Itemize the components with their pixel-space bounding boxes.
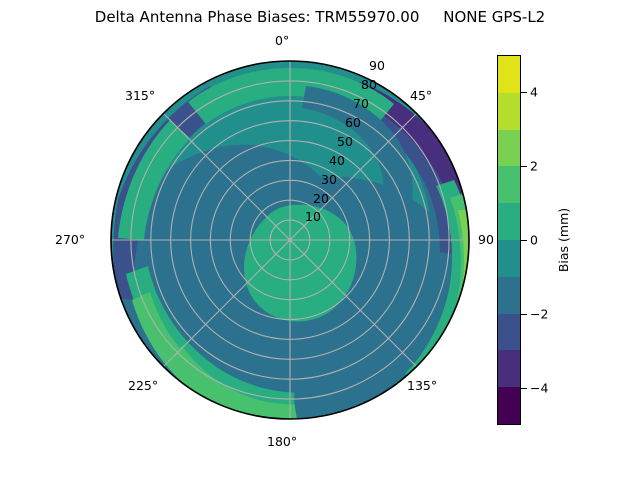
angular-tick-45: 45°	[410, 88, 432, 103]
angular-tick-90: 90	[478, 232, 494, 247]
colorbar-tick-m4	[521, 388, 527, 389]
colorbar-band-6	[498, 166, 520, 203]
polar-contour-plot	[110, 60, 470, 420]
radial-tick-20: 20	[313, 191, 329, 206]
colorbar-ticklabel-0: 0	[530, 233, 538, 248]
radial-tick-30: 30	[321, 172, 337, 187]
colorbar-axis-label: Bias (mm)	[556, 208, 571, 272]
radial-tick-10: 10	[305, 209, 321, 224]
colorbar-band-9	[498, 56, 520, 93]
colorbar-tick-m2	[521, 314, 527, 315]
radial-tick-60: 60	[345, 115, 361, 130]
radial-tick-50: 50	[337, 134, 353, 149]
colorbar-band-1	[498, 350, 520, 387]
angular-tick-0: 0°	[275, 33, 289, 48]
polar-grid	[111, 61, 469, 419]
colorbar-tick-0	[521, 240, 527, 241]
colorbar-band-3	[498, 277, 520, 314]
colorbar-ticklabel-2: 2	[530, 159, 538, 174]
colorbar-band-8	[498, 93, 520, 130]
colorbar-band-7	[498, 130, 520, 167]
colorbar-tick-2	[521, 166, 527, 167]
colorbar	[497, 55, 521, 425]
angular-tick-270: 270°	[55, 232, 85, 247]
angular-tick-135: 135°	[407, 378, 437, 393]
angular-tick-180: 180°	[267, 434, 297, 449]
colorbar-band-0	[498, 387, 520, 424]
radial-tick-80: 80	[361, 77, 377, 92]
figure-canvas: Delta Antenna Phase Biases: TRM55970.00 …	[0, 0, 640, 480]
angular-tick-315: 315°	[125, 88, 155, 103]
colorbar-ticklabel-4: 4	[530, 85, 538, 100]
colorbar-band-5	[498, 203, 520, 240]
colorbar-ticklabel-m4: −4	[530, 381, 548, 396]
angular-tick-225: 225°	[128, 378, 158, 393]
radial-tick-90: 90	[369, 58, 385, 73]
colorbar-tick-4	[521, 92, 527, 93]
radial-tick-40: 40	[329, 153, 345, 168]
colorbar-band-2	[498, 314, 520, 351]
radial-tick-70: 70	[353, 96, 369, 111]
polar-axes: 0° 45° 90 135° 180° 225° 270° 315° 10 20…	[110, 60, 470, 420]
colorbar-ticklabel-m2: −2	[530, 307, 548, 322]
page-title: Delta Antenna Phase Biases: TRM55970.00 …	[0, 8, 640, 26]
colorbar-band-4	[498, 240, 520, 277]
